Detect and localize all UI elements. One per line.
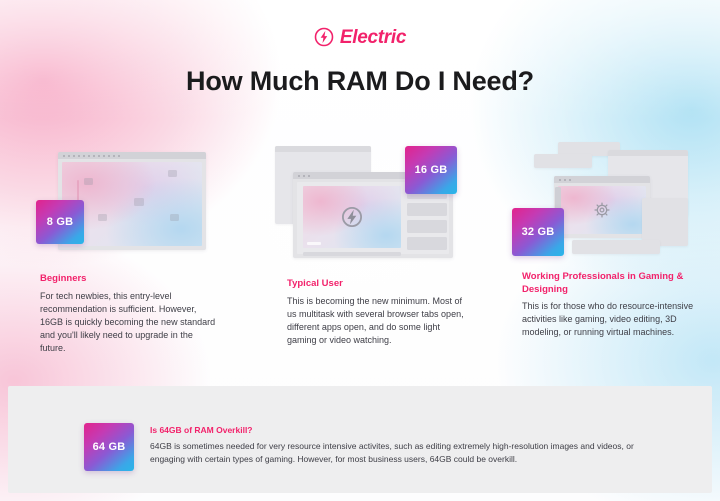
footer-note-heading: Is 64GB of RAM Overkill? bbox=[150, 424, 650, 436]
window-titlebar bbox=[275, 146, 371, 152]
background-window bbox=[534, 154, 592, 168]
footer-note-text: Is 64GB of RAM Overkill? 64GB is sometim… bbox=[150, 424, 650, 465]
tier-column-32gb: 32 GB Working Professionals in Gaming & … bbox=[512, 140, 720, 370]
tier-text-16gb: Typical User This is becoming the new mi… bbox=[287, 278, 465, 347]
playlist-item bbox=[407, 237, 447, 250]
desktop-icon-tile bbox=[170, 214, 179, 221]
video-player-window-icon: 16 GB bbox=[275, 140, 490, 265]
tier-heading: Typical User bbox=[287, 278, 465, 291]
page-title: How Much RAM Do I Need? bbox=[0, 66, 720, 97]
window-titlebar bbox=[554, 176, 650, 183]
ram-badge-64gb: 64 GB bbox=[84, 423, 134, 471]
ram-badge-label: 8 GB bbox=[47, 216, 73, 228]
playlist-item bbox=[407, 203, 447, 216]
desktop-icon-tile bbox=[98, 214, 107, 221]
lightning-bolt-circle-icon bbox=[314, 27, 334, 47]
background-window bbox=[572, 240, 660, 254]
ram-badge-8gb: 8 GB bbox=[36, 200, 84, 244]
playback-progress bbox=[307, 242, 321, 245]
ram-badge-32gb: 32 GB bbox=[512, 208, 564, 256]
tier-body: This is for those who do resource-intens… bbox=[522, 300, 700, 339]
tier-body: For tech newbies, this entry-level recom… bbox=[40, 290, 218, 355]
tier-heading: Beginners bbox=[40, 273, 218, 286]
ram-badge-label: 32 GB bbox=[522, 226, 555, 238]
video-canvas bbox=[303, 186, 401, 248]
titlebar-dots bbox=[298, 175, 310, 177]
brand-name: Electric bbox=[340, 28, 406, 47]
window-titlebar bbox=[58, 152, 206, 159]
ram-badge-label: 64 GB bbox=[93, 441, 126, 453]
tier-text-32gb: Working Professionals in Gaming & Design… bbox=[522, 271, 700, 339]
titlebar-dots bbox=[559, 179, 571, 181]
player-toolbar bbox=[303, 252, 401, 256]
stacked-windows-gear-icon: 32 GB bbox=[512, 140, 720, 265]
window-screen bbox=[558, 186, 646, 234]
tiers-row: 8 GB Beginners For tech newbies, this en… bbox=[0, 140, 720, 370]
tier-heading: Working Professionals in Gaming & Design… bbox=[522, 271, 700, 296]
desktop-window-icon: 8 GB bbox=[30, 140, 245, 265]
ram-badge-label: 16 GB bbox=[415, 164, 448, 176]
infographic-page: Electric How Much RAM Do I Need? bbox=[0, 0, 720, 501]
playlist-item bbox=[407, 220, 447, 233]
desktop-icon-tile bbox=[168, 170, 177, 177]
desktop-icon-tile bbox=[84, 178, 93, 185]
brand-logo: Electric bbox=[0, 27, 720, 47]
background-window bbox=[642, 198, 688, 246]
window-frame bbox=[554, 176, 650, 238]
tier-body: This is becoming the new minimum. Most o… bbox=[287, 295, 465, 347]
titlebar-dots bbox=[63, 155, 120, 157]
desktop-icon-tile bbox=[134, 198, 144, 206]
tier-column-8gb: 8 GB Beginners For tech newbies, this en… bbox=[30, 140, 245, 370]
window-titlebar bbox=[608, 150, 688, 156]
tier-column-16gb: 16 GB Typical User This is becoming the … bbox=[275, 140, 490, 370]
footer-note-body: 64GB is sometimes needed for very resour… bbox=[150, 440, 650, 465]
gear-icon bbox=[591, 199, 613, 221]
lightning-bolt-circle-icon bbox=[338, 203, 366, 231]
ram-badge-16gb: 16 GB bbox=[405, 146, 457, 194]
tier-text-8gb: Beginners For tech newbies, this entry-l… bbox=[40, 273, 218, 355]
